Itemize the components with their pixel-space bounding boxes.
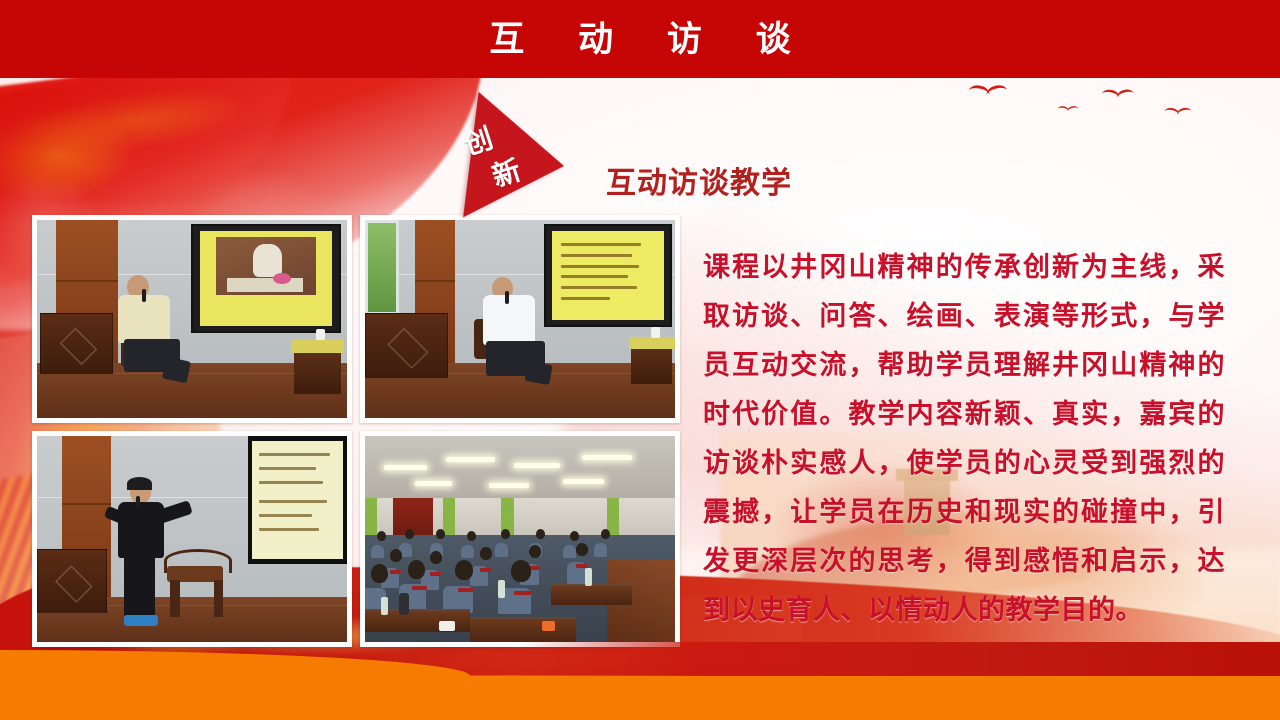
bird-icon: [969, 77, 1008, 98]
body-paragraph: 课程以井冈山精神的传承创新为主线，采取访谈、问答、绘画、表演等形式，与学员互动交…: [703, 243, 1225, 635]
photo-speaker-standing-woman: [32, 431, 352, 647]
footer-red-band: [520, 642, 1280, 676]
bird-icon: [1164, 102, 1191, 117]
photo-audience-red-army-uniform: [360, 431, 680, 647]
photo-interview-seated-elder: [32, 215, 352, 423]
bird-icon: [1058, 101, 1079, 112]
photo-interview-white-shirt: [360, 215, 680, 423]
header-banner: 互 动 访 谈: [0, 0, 1280, 78]
bird-icon: [1102, 82, 1135, 100]
page-title: 互 动 访 谈: [467, 22, 812, 57]
slide-root: 互 动 访 谈 创 新 互动访谈教学: [0, 0, 1280, 720]
footer-orange-bar: [0, 676, 1280, 720]
section-subtitle: 互动访谈教学: [606, 158, 792, 202]
innovation-triangle-badge: 创 新: [448, 106, 574, 201]
photo-grid: [32, 215, 680, 647]
